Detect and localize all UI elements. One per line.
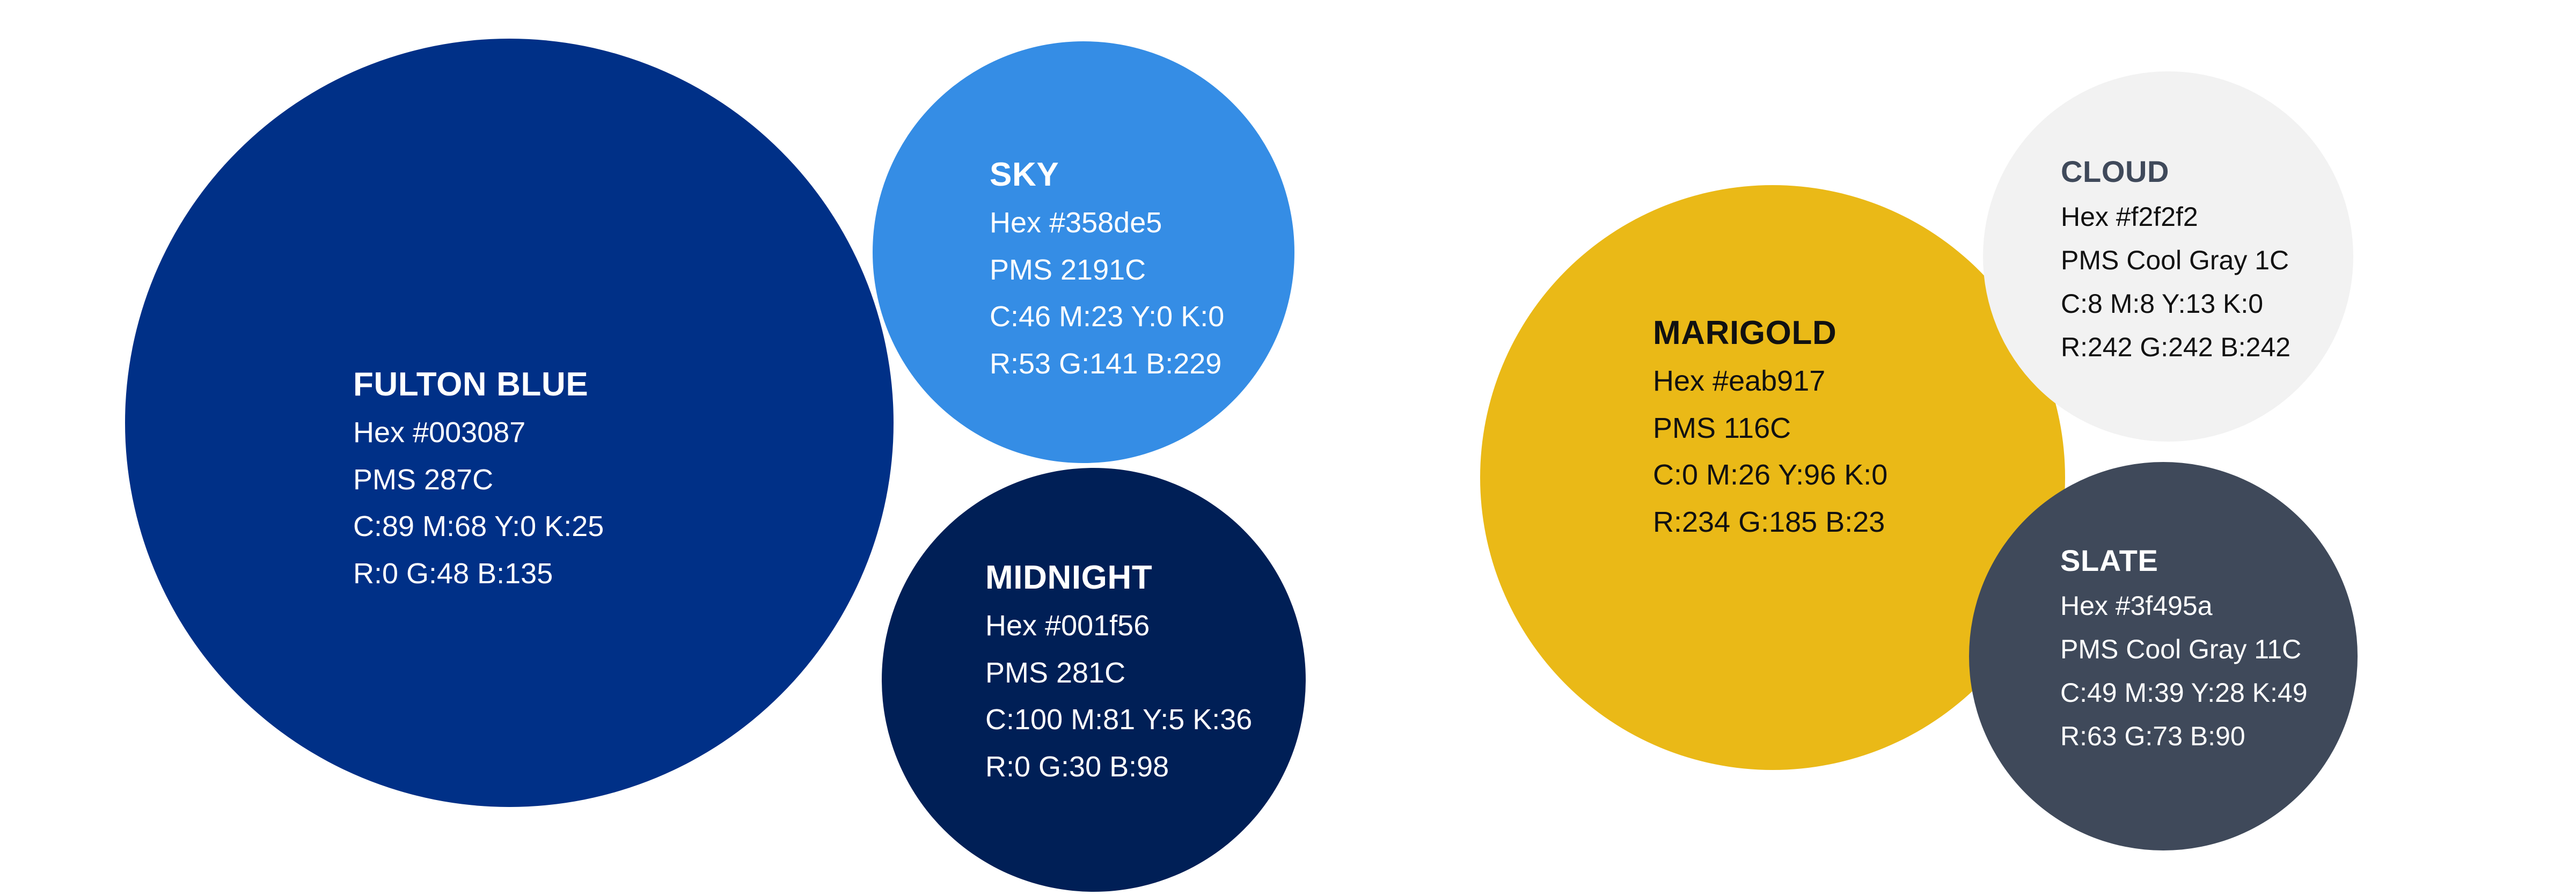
- swatch-content-slate: SLATE Hex #3f495a PMS Cool Gray 11C C:49…: [2060, 545, 2308, 758]
- swatch-name-midnight: MIDNIGHT: [985, 560, 1252, 595]
- swatch-hex-slate: Hex #3f495a: [2060, 584, 2308, 628]
- swatch-pms-fulton-blue: PMS 287C: [353, 457, 604, 503]
- swatch-content-sky: SKY Hex #358de5 PMS 2191C C:46 M:23 Y:0 …: [990, 157, 1224, 387]
- swatch-hex-sky: Hex #358de5: [990, 200, 1224, 246]
- swatch-name-cloud: CLOUD: [2061, 156, 2290, 188]
- swatch-rgb-midnight: R:0 G:30 B:98: [985, 744, 1252, 790]
- swatch-cmyk-sky: C:46 M:23 Y:0 K:0: [990, 294, 1224, 340]
- swatch-hex-marigold: Hex #eab917: [1653, 358, 1887, 405]
- swatch-rgb-sky: R:53 G:141 B:229: [990, 341, 1224, 387]
- swatch-pms-slate: PMS Cool Gray 11C: [2060, 628, 2308, 671]
- color-swatch-midnight[interactable]: MIDNIGHT Hex #001f56 PMS 281C C:100 M:81…: [882, 468, 1306, 892]
- color-swatch-sky[interactable]: SKY Hex #358de5 PMS 2191C C:46 M:23 Y:0 …: [873, 41, 1294, 463]
- swatch-pms-sky: PMS 2191C: [990, 247, 1224, 294]
- swatch-rgb-marigold: R:234 G:185 B:23: [1653, 499, 1887, 546]
- swatch-cmyk-fulton-blue: C:89 M:68 Y:0 K:25: [353, 503, 604, 550]
- swatch-rgb-slate: R:63 G:73 B:90: [2060, 715, 2308, 758]
- swatch-name-fulton-blue: FULTON BLUE: [353, 367, 604, 402]
- swatch-content-marigold: MARIGOLD Hex #eab917 PMS 116C C:0 M:26 Y…: [1653, 316, 1887, 546]
- swatch-hex-midnight: Hex #001f56: [985, 603, 1252, 649]
- swatch-hex-fulton-blue: Hex #003087: [353, 409, 604, 456]
- swatch-rgb-fulton-blue: R:0 G:48 B:135: [353, 551, 604, 597]
- swatch-content-fulton-blue: FULTON BLUE Hex #003087 PMS 287C C:89 M:…: [353, 367, 604, 597]
- swatch-pms-cloud: PMS Cool Gray 1C: [2061, 239, 2290, 282]
- swatch-pms-marigold: PMS 116C: [1653, 405, 1887, 452]
- color-swatch-cloud[interactable]: CLOUD Hex #f2f2f2 PMS Cool Gray 1C C:8 M…: [1983, 71, 2353, 442]
- swatch-name-marigold: MARIGOLD: [1653, 316, 1887, 350]
- swatch-cmyk-cloud: C:8 M:8 Y:13 K:0: [2061, 282, 2290, 326]
- swatch-name-sky: SKY: [990, 157, 1224, 192]
- swatch-content-cloud: CLOUD Hex #f2f2f2 PMS Cool Gray 1C C:8 M…: [2061, 156, 2290, 369]
- color-swatch-fulton-blue[interactable]: FULTON BLUE Hex #003087 PMS 287C C:89 M:…: [125, 39, 894, 807]
- color-palette-canvas: FULTON BLUE Hex #003087 PMS 287C C:89 M:…: [0, 0, 2576, 895]
- color-swatch-slate[interactable]: SLATE Hex #3f495a PMS Cool Gray 11C C:49…: [1969, 462, 2358, 850]
- swatch-name-slate: SLATE: [2060, 545, 2308, 577]
- swatch-cmyk-midnight: C:100 M:81 Y:5 K:36: [985, 696, 1252, 743]
- swatch-content-midnight: MIDNIGHT Hex #001f56 PMS 281C C:100 M:81…: [985, 560, 1252, 790]
- swatch-cmyk-marigold: C:0 M:26 Y:96 K:0: [1653, 452, 1887, 498]
- swatch-cmyk-slate: C:49 M:39 Y:28 K:49: [2060, 671, 2308, 715]
- swatch-hex-cloud: Hex #f2f2f2: [2061, 195, 2290, 239]
- swatch-pms-midnight: PMS 281C: [985, 650, 1252, 696]
- swatch-rgb-cloud: R:242 G:242 B:242: [2061, 326, 2290, 369]
